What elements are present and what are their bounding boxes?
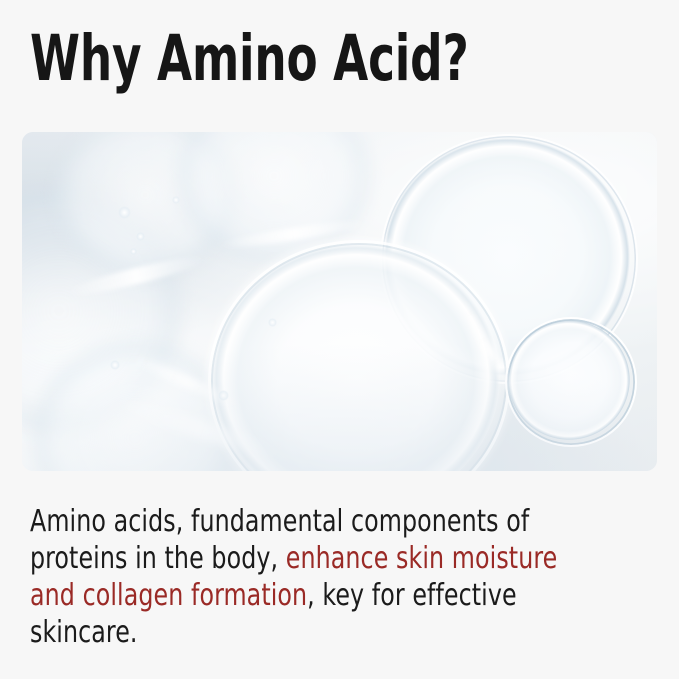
page-title: Why Amino Acid?	[30, 22, 526, 96]
hero-bubbles-image	[22, 132, 657, 471]
photo-veil	[22, 132, 657, 471]
marketing-infographic-page: Why Amino Acid? Amino acids, fundamental…	[0, 0, 679, 679]
body-paragraph: Amino acids, fundamental components of p…	[30, 503, 593, 651]
